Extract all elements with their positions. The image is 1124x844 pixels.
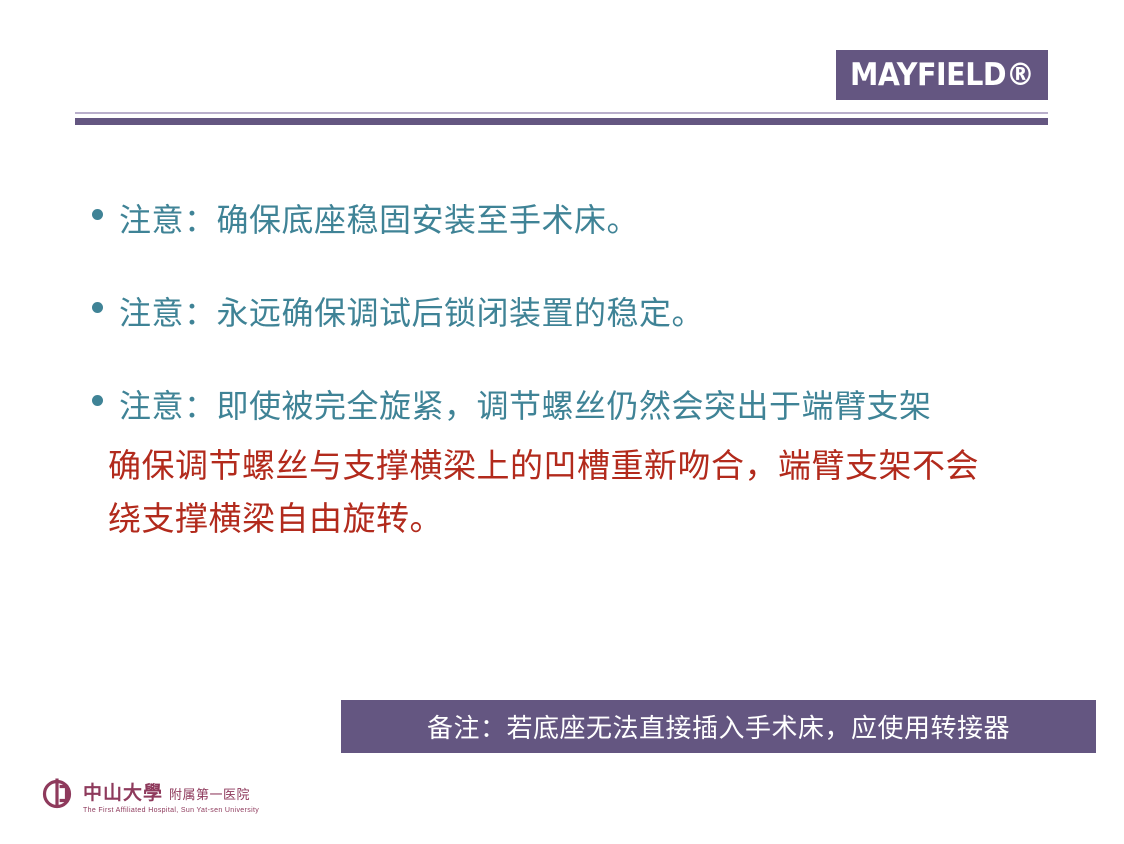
list-item: 注意：确保底座稳固安装至手术床。 <box>92 192 1022 249</box>
hospital-name-en: The First Affiliated Hospital, Sun Yat-s… <box>83 807 259 814</box>
list-item: 注意：永远确保调试后锁闭装置的稳定。 <box>92 285 1022 342</box>
bullet-text: 注意：永远确保调试后锁闭装置的稳定。 <box>119 285 1022 342</box>
mayfield-brand-label: MAYFIELD® <box>850 60 1034 91</box>
list-item: 注意：即使被完全旋紧，调节螺丝仍然会突出于端臂支架 <box>92 378 1022 435</box>
university-name-cn: 中山大學 <box>83 778 163 805</box>
sysu-emblem-icon <box>40 776 74 815</box>
bullet-dot-icon <box>92 395 103 406</box>
hospital-name-cn: 附属第一医院 <box>169 784 250 803</box>
footer-note-banner: 备注：若底座无法直接插入手术床，应使用转接器 <box>341 700 1096 753</box>
header-divider-thick <box>75 118 1048 125</box>
bullet-text: 注意：确保底座稳固安装至手术床。 <box>119 192 1022 249</box>
footer-note-text: 备注：若底座无法直接插入手术床，应使用转接器 <box>427 708 1010 745</box>
university-logo-wordmark: 中山大學 附属第一医院 The First Affiliated Hospita… <box>83 778 259 814</box>
header-divider-thin <box>75 112 1048 114</box>
red-warning-note: 确保调节螺丝与支撑横梁上的凹槽重新吻合，端臂支架不会绕支撑横梁自由旋转。 <box>108 440 998 546</box>
mayfield-brand-box: MAYFIELD® <box>836 50 1048 100</box>
bullet-text: 注意：即使被完全旋紧，调节螺丝仍然会突出于端臂支架 <box>119 378 1022 435</box>
university-logo: 中山大學 附属第一医院 The First Affiliated Hospita… <box>40 776 259 815</box>
bullet-dot-icon <box>92 302 103 313</box>
bullet-list: 注意：确保底座稳固安装至手术床。 注意：永远确保调试后锁闭装置的稳定。 注意：即… <box>92 192 1022 471</box>
university-logo-cn-row: 中山大學 附属第一医院 <box>83 778 259 805</box>
bullet-dot-icon <box>92 209 103 220</box>
slide-canvas: MAYFIELD® 注意：确保底座稳固安装至手术床。 注意：永远确保调试后锁闭装… <box>0 0 1124 844</box>
